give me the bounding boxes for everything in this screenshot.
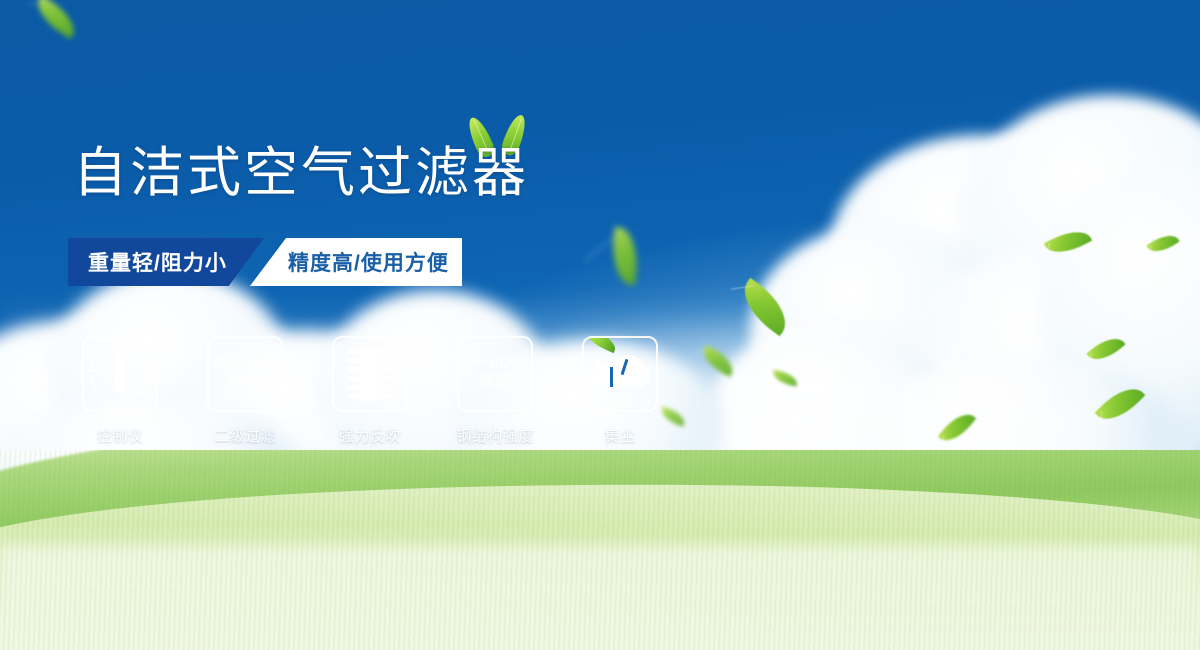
feature-item-strong-backblow[interactable]: 强力反吹 xyxy=(332,336,408,446)
feature-icon-box: Air xyxy=(582,336,658,412)
feature-icon-box xyxy=(332,336,408,412)
cloud-air-caption: Air xyxy=(590,393,650,407)
gauge-needle xyxy=(115,354,125,394)
feature-label: 强力反吹 xyxy=(339,425,401,446)
feature-label: 二级过滤 xyxy=(214,425,276,446)
grass-texture xyxy=(0,450,1200,650)
feature-item-steel-strength[interactable]: 3〜8MM 钢板 钢结构强度 xyxy=(457,336,533,446)
page-title: 自洁式空气过滤器 xyxy=(73,146,529,200)
steel-plate-text-icon: 3〜8MM 钢板 xyxy=(464,355,526,392)
pressure-range: 0.6〜0.8 xyxy=(214,355,277,372)
subtitle-left-text: 重量轻/阻力小 xyxy=(88,247,227,277)
feature-label: 控制仪 xyxy=(97,425,144,446)
subtitle-right-segment: 精度高/使用方便 xyxy=(250,238,462,286)
filter-stack-icon xyxy=(347,347,393,401)
pressure-unit: MPA xyxy=(214,374,277,393)
subtitle-right-text: 精度高/使用方便 xyxy=(288,247,449,277)
feature-icon-box: 0.6〜0.8 MPA xyxy=(207,336,283,412)
cloud-air-icon: Air xyxy=(590,351,650,391)
steel-thickness: 3〜8MM xyxy=(464,355,526,372)
gauge-max-label: OFF xyxy=(136,391,150,398)
feature-label: 集尘 xyxy=(604,425,635,446)
feature-icon-box: NO OFF xyxy=(82,336,158,412)
subtitle-left-segment: 重量轻/阻力小 xyxy=(68,238,264,286)
feature-icon-box: 3〜8MM 钢板 xyxy=(457,336,533,412)
steel-material: 钢板 xyxy=(464,374,526,393)
feature-item-dust-collection[interactable]: Air 集尘 xyxy=(582,336,658,446)
pressure-text-icon: 0.6〜0.8 MPA xyxy=(214,355,277,392)
feature-list: NO OFF 控制仪 0.6〜0.8 MPA 二级过滤 xyxy=(82,336,658,446)
gauge-icon: NO OFF xyxy=(89,345,151,403)
feature-label: 钢结构强度 xyxy=(456,425,534,446)
grass-field xyxy=(0,450,1200,650)
subtitle-band: 重量轻/阻力小 精度高/使用方便 xyxy=(68,238,462,286)
product-banner: 自洁式空气过滤器 重量轻/阻力小 精度高/使用方便 xyxy=(0,0,1200,650)
feature-item-control-gauge[interactable]: NO OFF 控制仪 xyxy=(82,336,158,446)
gauge-min-label: NO xyxy=(88,367,99,374)
feature-item-two-stage-filter[interactable]: 0.6〜0.8 MPA 二级过滤 xyxy=(207,336,283,446)
